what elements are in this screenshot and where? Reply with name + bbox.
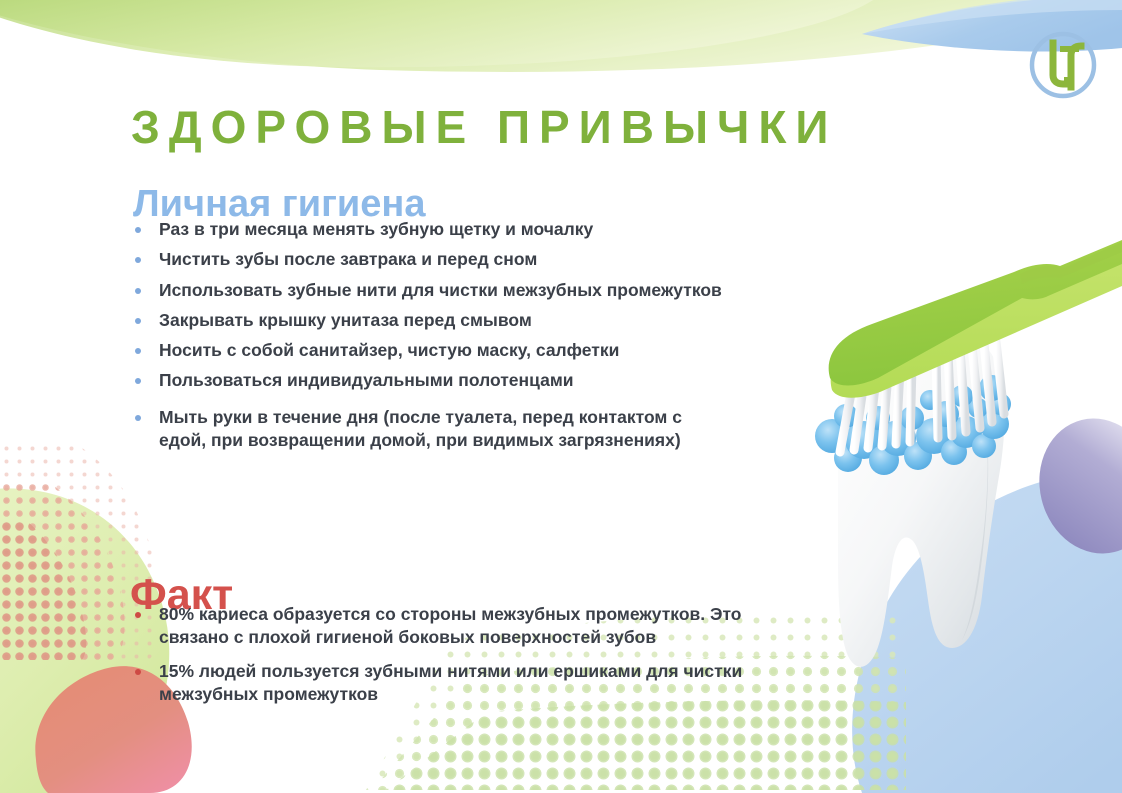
list-item: Пользоваться индивидуальными полотенцами — [131, 369, 731, 392]
fact-bullet-list: 80% кариеса образуется со стороны межзуб… — [131, 603, 771, 713]
list-item: 80% кариеса образуется со стороны межзуб… — [131, 603, 771, 650]
slide-content: ЗДОРОВЫЕ ПРИВЫЧКИ Личная гигиена Раз в т… — [0, 0, 1122, 793]
list-item: Использовать зубные нити для чистки межз… — [131, 279, 731, 302]
list-item: Раз в три месяца менять зубную щетку и м… — [131, 218, 731, 241]
list-item: Носить с собой санитайзер, чистую маску,… — [131, 339, 731, 362]
list-item: 15% людей пользуется зубными нитями или … — [131, 660, 771, 707]
list-item: Мыть руки в течение дня (после туалета, … — [131, 406, 731, 453]
hygiene-bullet-list: Раз в три месяца менять зубную щетку и м… — [131, 218, 731, 459]
slide-canvas: ЗДОРОВЫЕ ПРИВЫЧКИ Личная гигиена Раз в т… — [0, 0, 1122, 793]
list-item: Закрывать крышку унитаза перед смывом — [131, 309, 731, 332]
page-title: ЗДОРОВЫЕ ПРИВЫЧКИ — [131, 103, 837, 151]
list-item: Чистить зубы после завтрака и перед сном — [131, 248, 731, 271]
company-logo-icon — [1027, 29, 1099, 101]
